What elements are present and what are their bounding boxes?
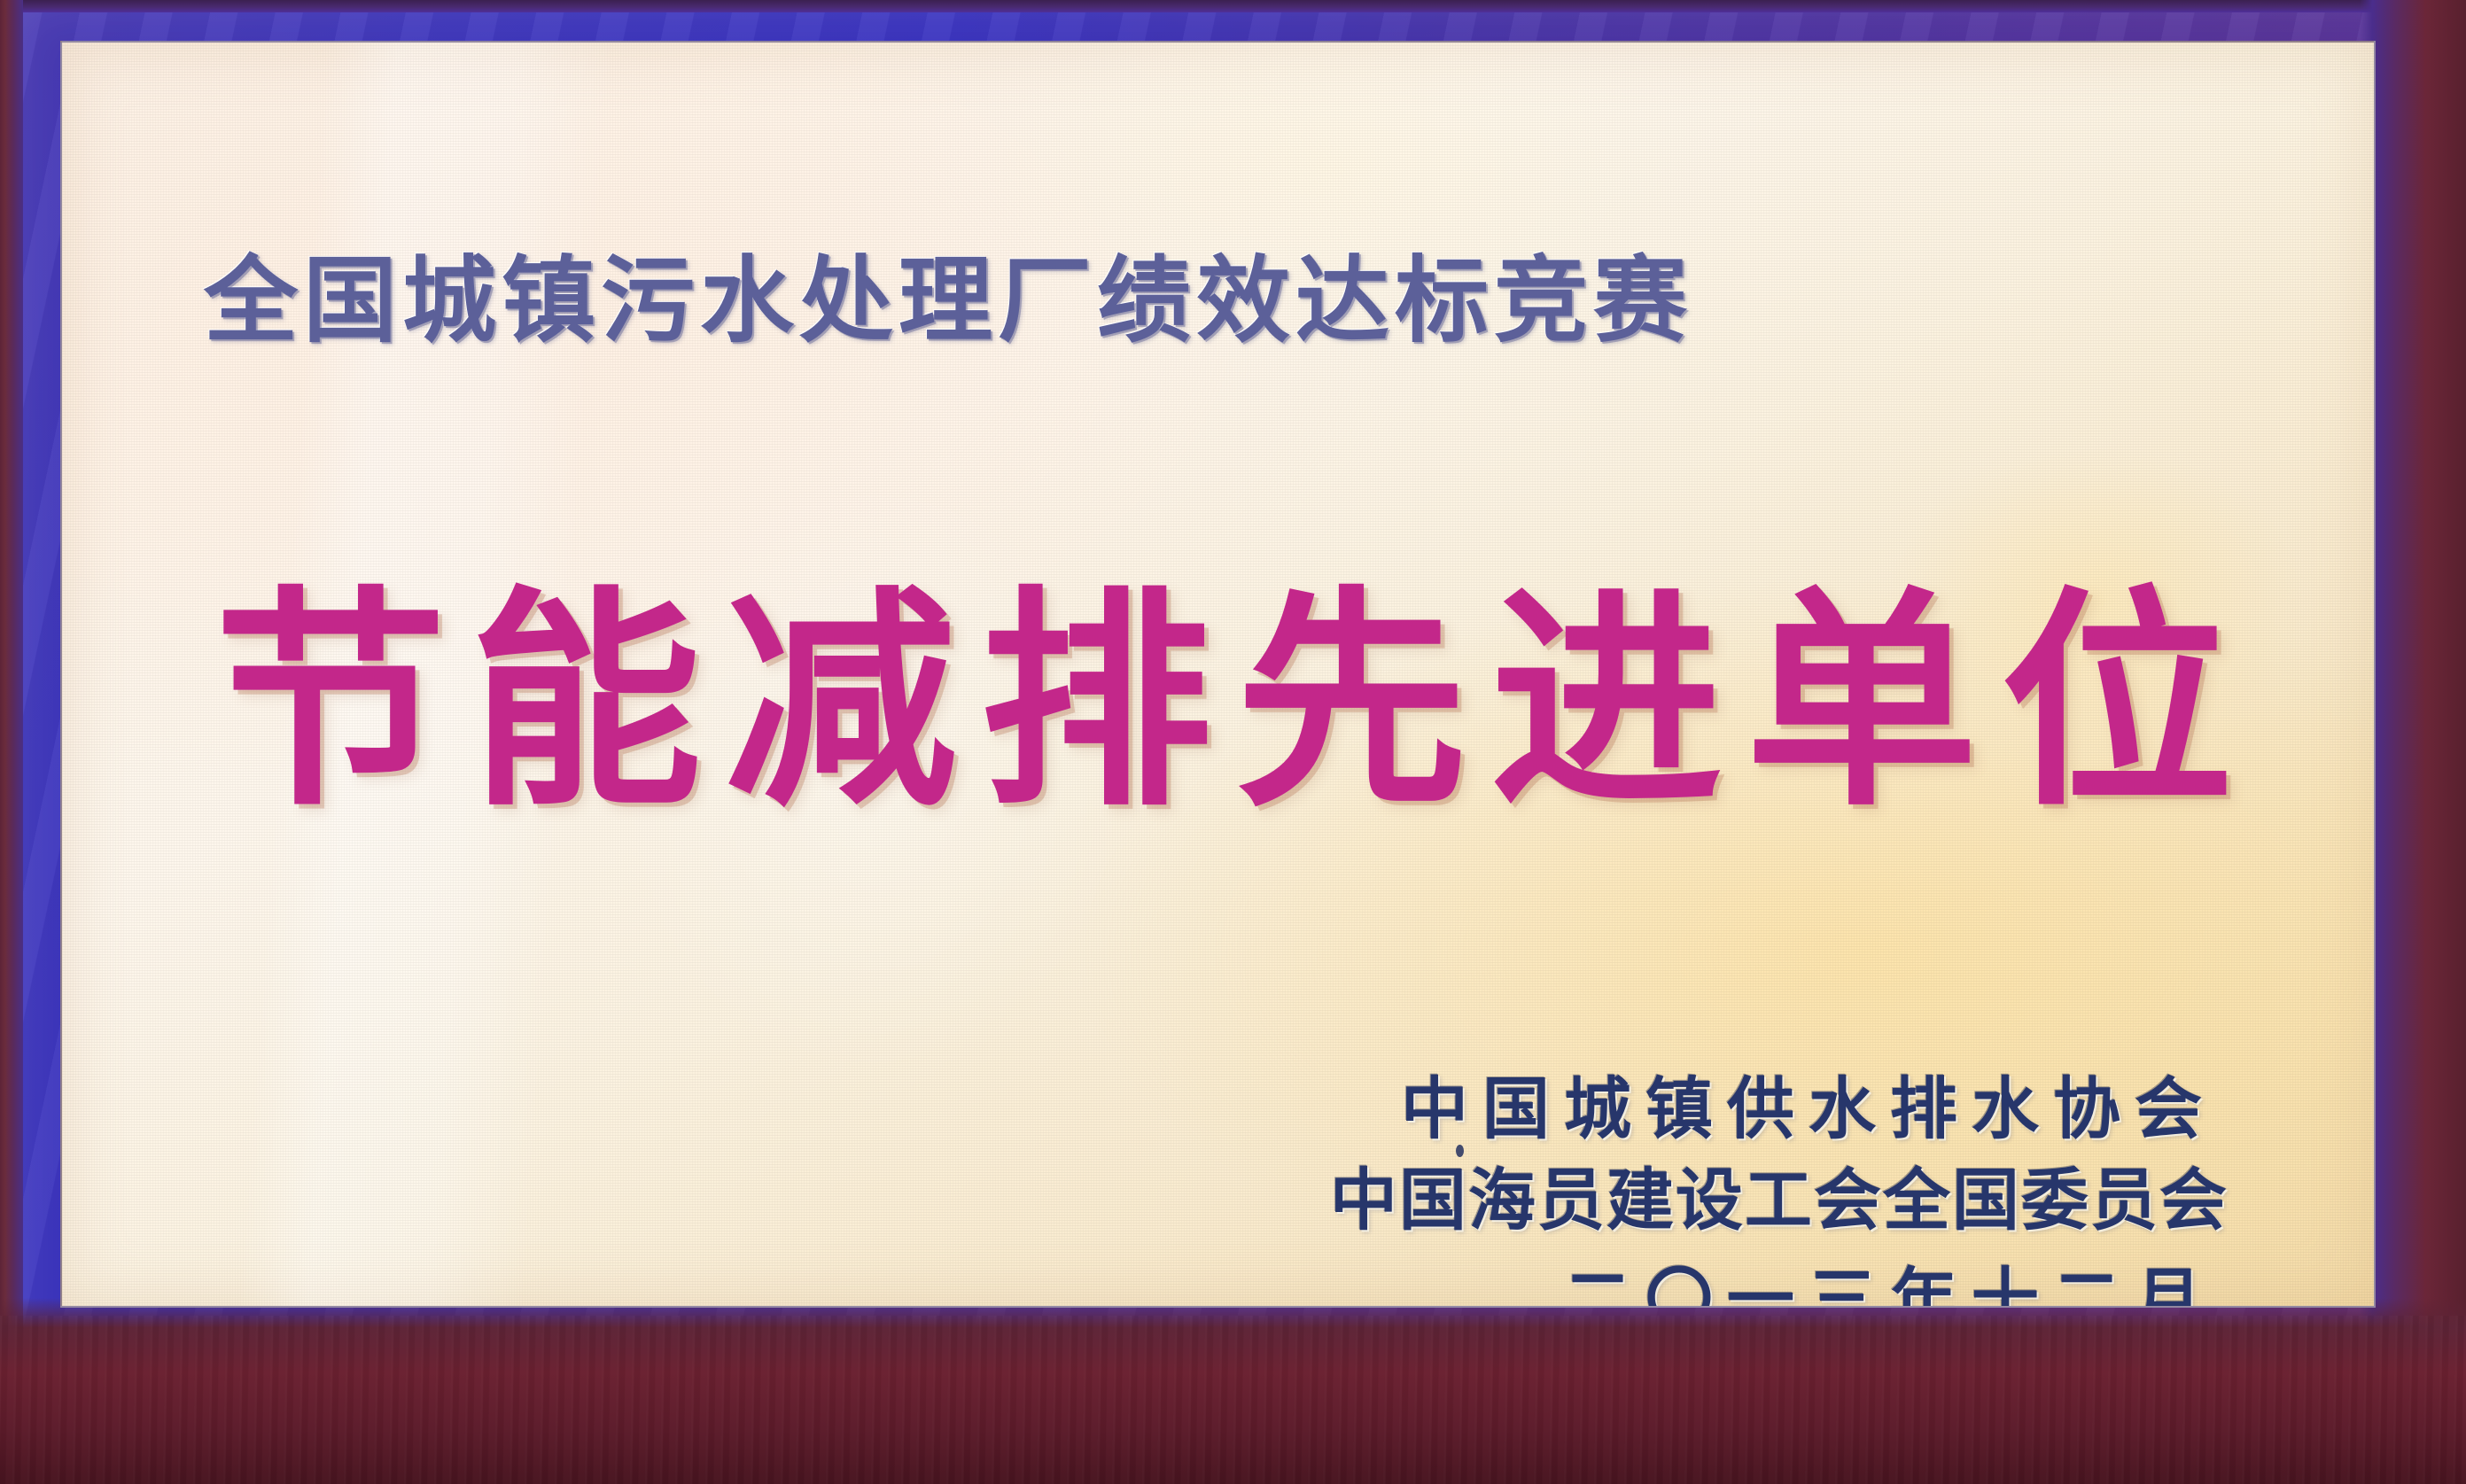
issuing-organization-2: 中国海员建设工会全国委员会	[1330, 1154, 2230, 1246]
ink-speck	[1456, 1145, 1464, 1157]
competition-header-text: 全国城镇污水处理厂绩效达标竞赛	[204, 253, 1692, 347]
award-plaque: 全国城镇污水处理厂绩效达标竞赛 节能减排先进单位 中国城镇供水排水协会 中国海员…	[0, 0, 2466, 1484]
signature-block: 中国城镇供水排水协会 中国海员建设工会全国委员会 二〇一三年十二月	[1330, 1063, 2230, 1308]
issuing-organization-1: 中国城镇供水排水协会	[1330, 1063, 2230, 1154]
award-title-text: 节能减排先进单位	[214, 585, 2252, 817]
plaque-panel: 全国城镇污水处理厂绩效达标竞赛 节能减排先进单位 中国城镇供水排水协会 中国海员…	[60, 41, 2376, 1308]
issue-date: 二〇一三年十二月	[1330, 1252, 2230, 1308]
